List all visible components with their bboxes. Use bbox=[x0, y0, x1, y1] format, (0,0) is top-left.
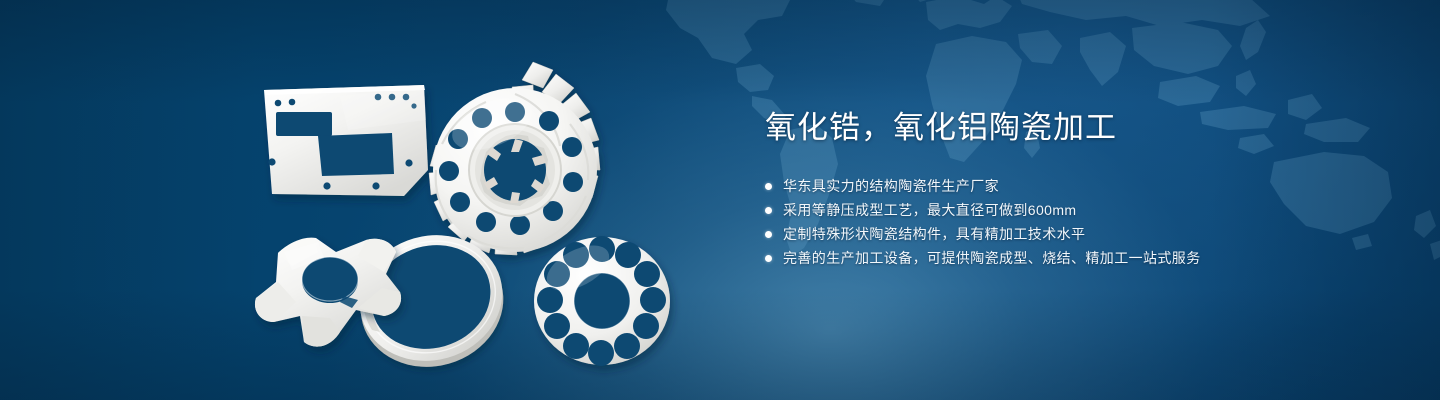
ceramic-plate-with-cutouts bbox=[264, 85, 428, 196]
feature-list: 华东具实力的结构陶瓷件生产厂家 采用等静压成型工艺，最大直径可做到600mm 定… bbox=[765, 174, 1405, 270]
feature-text: 华东具实力的结构陶瓷件生产厂家 bbox=[783, 174, 999, 198]
ceramic-impeller-disc bbox=[429, 62, 600, 255]
list-item: 采用等静压成型工艺，最大直径可做到600mm bbox=[765, 198, 1405, 222]
bullet-dot-icon bbox=[765, 255, 772, 262]
ceramic-products-photo bbox=[0, 0, 740, 400]
banner-text-block: 氧化锆，氧化铝陶瓷加工 华东具实力的结构陶瓷件生产厂家 采用等静压成型工艺，最大… bbox=[765, 108, 1405, 286]
bullet-dot-icon bbox=[765, 231, 772, 238]
feature-text: 采用等静压成型工艺，最大直径可做到600mm bbox=[783, 198, 1076, 222]
bullet-dot-icon bbox=[765, 183, 772, 190]
product-banner: 氧化锆，氧化铝陶瓷加工 华东具实力的结构陶瓷件生产厂家 采用等静压成型工艺，最大… bbox=[0, 0, 1440, 400]
feature-text: 完善的生产加工设备，可提供陶瓷成型、烧结、精加工一站式服务 bbox=[783, 246, 1201, 270]
list-item: 华东具实力的结构陶瓷件生产厂家 bbox=[765, 174, 1405, 198]
bullet-dot-icon bbox=[765, 207, 772, 214]
feature-text: 定制特殊形状陶瓷结构件，具有精加工技术水平 bbox=[783, 222, 1085, 246]
page-title: 氧化锆，氧化铝陶瓷加工 bbox=[765, 108, 1405, 148]
list-item: 定制特殊形状陶瓷结构件，具有精加工技术水平 bbox=[765, 222, 1405, 246]
list-item: 完善的生产加工设备，可提供陶瓷成型、烧结、精加工一站式服务 bbox=[765, 246, 1405, 270]
ceramic-perforated-disc bbox=[534, 236, 670, 366]
